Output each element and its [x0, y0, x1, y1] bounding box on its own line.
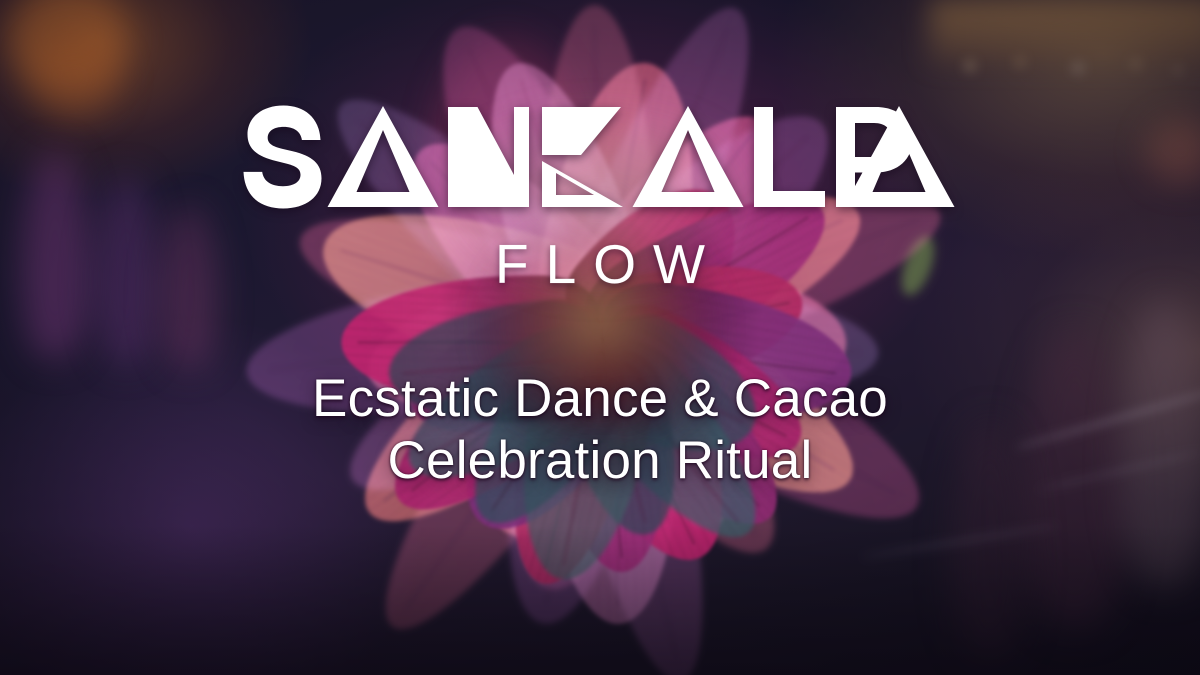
venue-bar-lights — [950, 48, 1200, 90]
wordmark-letter-k-lower — [542, 161, 623, 207]
headline-line-2: Celebration Ritual — [50, 430, 1150, 492]
wordmark-letter-a-1 — [328, 106, 439, 207]
event-banner: FLOW Ecstatic Dance & Cacao Celebration … — [0, 0, 1200, 675]
bokeh-light — [1146, 118, 1200, 184]
wordmark-letter-l — [754, 107, 825, 207]
wordmark-letter-s — [244, 106, 322, 209]
brand-wordmark-sankalpa — [242, 103, 958, 211]
headline-line-1: Ecstatic Dance & Cacao — [50, 368, 1150, 430]
brand-subtitle-flow: FLOW — [478, 237, 722, 292]
wordmark-letter-a-2 — [633, 106, 744, 207]
bokeh-light — [28, 34, 120, 120]
dancer-silhouette — [160, 205, 218, 370]
wordmark-letter-n — [448, 107, 529, 207]
dancer-silhouette — [95, 175, 157, 365]
dancer-silhouette — [20, 150, 90, 360]
event-headline: Ecstatic Dance & Cacao Celebration Ritua… — [50, 368, 1150, 492]
wordmark-letter-k — [542, 107, 621, 155]
